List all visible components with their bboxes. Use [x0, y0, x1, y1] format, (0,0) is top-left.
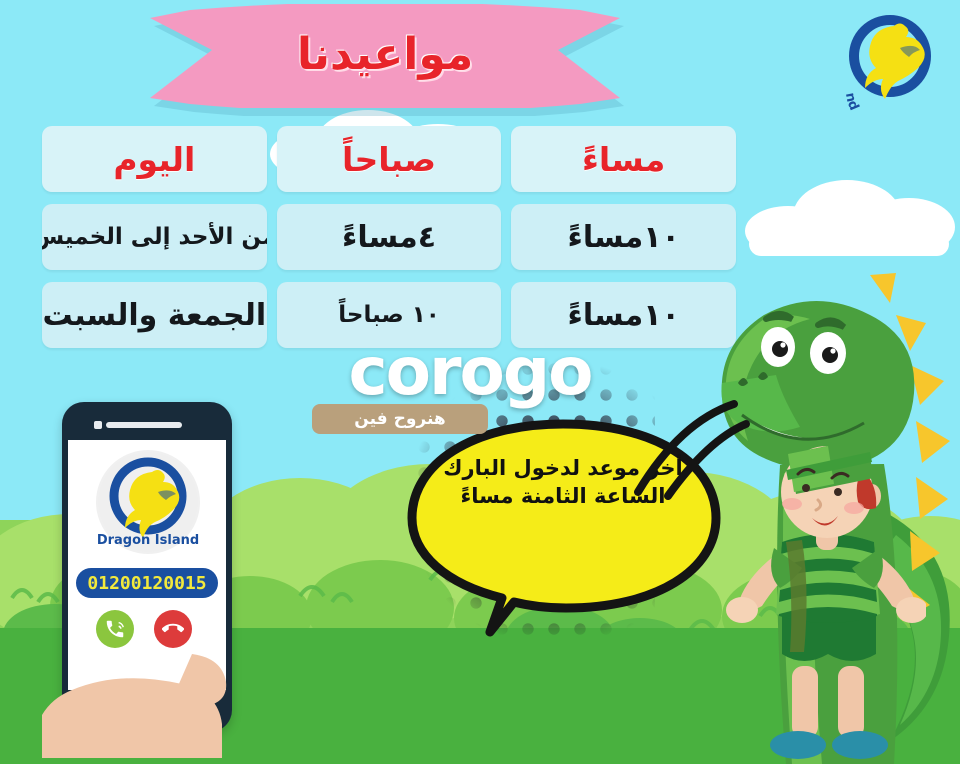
cell-day-value: من الأحد إلى الخميس	[42, 224, 267, 250]
phone-camera-icon	[94, 421, 102, 429]
hand-icon	[42, 562, 252, 762]
banner-ribbon: مواعيدنا	[150, 4, 620, 116]
poster-canvas: مواعيدنا اليوم صباحاً مساءً من الأحد إلى…	[0, 0, 960, 764]
header-morning-label: صباحاً	[342, 140, 436, 179]
header-day-label: اليوم	[113, 140, 195, 179]
header-cell-evening: مساءً	[511, 126, 736, 192]
dragon-head-icon: Dragon Island	[96, 450, 200, 554]
boy-character	[726, 430, 926, 764]
watermark: corogo هنروح فين	[300, 338, 640, 438]
header-cell-morning: صباحاً	[277, 126, 502, 192]
cell-day-value: الجمعة والسبت	[43, 298, 267, 333]
cell-evening-value: ١٠مساءً	[568, 220, 680, 255]
phone-illustration: Dragon Island 01200120015	[62, 402, 232, 742]
schedule-header-row: اليوم صباحاً مساءً	[42, 126, 736, 192]
cell-morning: ٤مساءً	[277, 204, 502, 270]
watermark-text: corogo	[300, 338, 640, 404]
cell-day: من الأحد إلى الخميس	[42, 204, 267, 270]
phone-speaker-icon	[106, 422, 182, 428]
motion-lines-icon	[624, 396, 754, 506]
schedule-table: اليوم صباحاً مساءً من الأحد إلى الخميس ٤…	[42, 126, 736, 360]
phone-logo: Dragon Island	[96, 450, 200, 554]
page-title: مواعيدنا	[150, 4, 620, 116]
cell-day: الجمعة والسبت	[42, 282, 267, 348]
header-cell-day: اليوم	[42, 126, 267, 192]
cell-evening: ١٠مساءً	[511, 204, 736, 270]
watermark-tagline: هنروح فين	[312, 404, 488, 434]
header-evening-label: مساءً	[582, 140, 665, 179]
cell-morning-value: ١٠ صباحاً	[338, 302, 440, 328]
speech-bubble: أخر موعد لدخول البارك الساعة الثامنة مسا…	[398, 418, 728, 648]
cell-morning-value: ٤مساءً	[342, 220, 436, 255]
cell-evening-value: ١٠مساءً	[568, 298, 680, 333]
brand-logo: Dragon Island	[836, 8, 944, 116]
phone-logo-label: Dragon Island	[97, 533, 199, 548]
table-row: من الأحد إلى الخميس ٤مساءً ١٠مساءً	[42, 204, 736, 270]
